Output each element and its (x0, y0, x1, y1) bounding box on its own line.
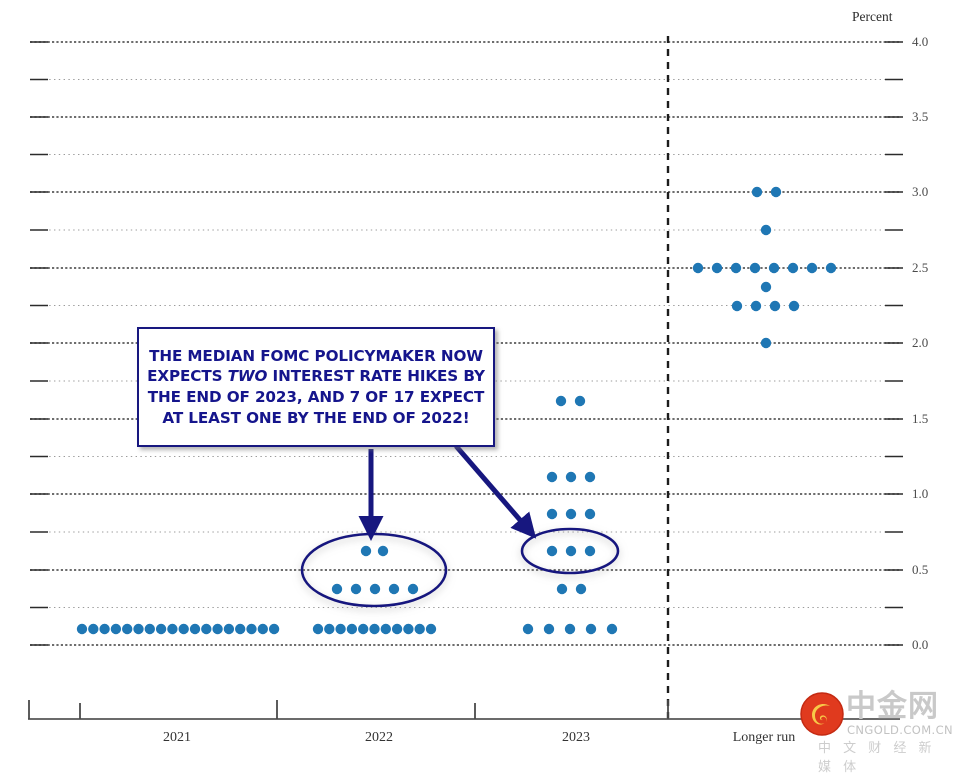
callout-line-2-prefix: EXPECTS (147, 367, 228, 385)
callout-line-1: THE MEDIAN FOMC POLICYMAKER NOW (149, 347, 483, 365)
y-tick-label-4-0: 4.0 (912, 34, 928, 50)
arrow-to-2023-cluster (456, 446, 527, 528)
annotation-callout-box: THE MEDIAN FOMC POLICYMAKER NOW EXPECTS … (137, 327, 495, 447)
annotation-callout-text: THE MEDIAN FOMC POLICYMAKER NOW EXPECTS … (139, 346, 493, 429)
y-axis-tick-marks (30, 42, 48, 645)
y-tick-label-3-0: 3.0 (912, 184, 928, 200)
dot-group-2022 (313, 546, 436, 634)
y-tick-label-1-5: 1.5 (912, 411, 928, 427)
y-tick-label-1-0: 1.0 (912, 486, 928, 502)
callout-line-4: AT LEAST ONE BY THE END OF 2022! (162, 409, 469, 427)
x-tick-label-2021: 2021 (137, 730, 217, 746)
y-tick-label-2-0: 2.0 (912, 335, 928, 351)
dot-group-longer-run (693, 187, 836, 348)
x-tick-label-longer-run: Longer run (704, 730, 824, 746)
callout-line-2-suffix: INTEREST RATE HIKES BY (267, 367, 485, 385)
y-tick-label-0-0: 0.0 (912, 637, 928, 653)
dot-group-2023 (523, 396, 617, 634)
fomc-dot-plot-chart: Percent (0, 0, 957, 759)
y-tick-label-2-5: 2.5 (912, 260, 928, 276)
y-axis-tick-marks-right (885, 42, 903, 645)
callout-emphasis-two: TWO (228, 367, 268, 385)
callout-line-3: THE END OF 2023, AND 7 OF 17 EXPECT (148, 388, 484, 406)
dot-group-2021 (77, 624, 279, 634)
y-tick-label-0-5: 0.5 (912, 562, 928, 578)
x-tick-label-2023: 2023 (536, 730, 616, 746)
y-tick-label-3-5: 3.5 (912, 109, 928, 125)
x-axis-tick-marks (29, 700, 668, 719)
x-tick-label-2022: 2022 (339, 730, 419, 746)
